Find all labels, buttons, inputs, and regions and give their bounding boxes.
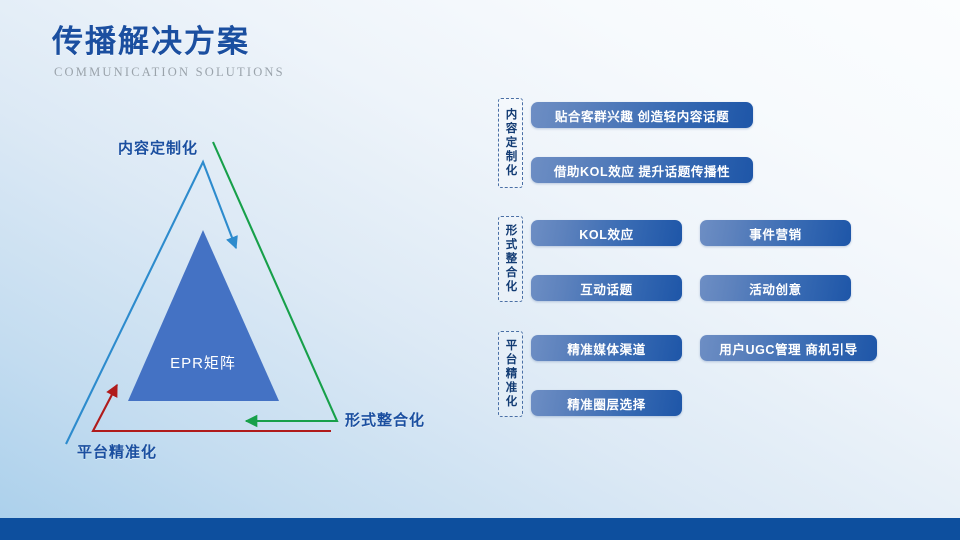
slide-canvas: 传播解决方案 COMMUNICATION SOLUTIONS [0, 0, 960, 540]
solution-group: 平台精准化精准媒体渠道用户UGC管理 商机引导精准圈层选择 [498, 329, 898, 439]
solution-group: 形式整合化KOL效应事件营销互动话题活动创意 [498, 214, 898, 324]
group-tag: 形式整合化 [498, 216, 523, 302]
solution-pill[interactable]: 贴合客群兴趣 创造轻内容话题 [531, 102, 753, 128]
solution-group: 内容定制化贴合客群兴趣 创造轻内容话题借助KOL效应 提升话题传播性 [498, 96, 898, 206]
solution-pill[interactable]: 用户UGC管理 商机引导 [700, 335, 877, 361]
solution-pill[interactable]: KOL效应 [531, 220, 682, 246]
solution-pill[interactable]: 借助KOL效应 提升话题传播性 [531, 157, 753, 183]
solution-pill-label: 精准圈层选择 [567, 394, 646, 413]
group-tag: 平台精准化 [498, 331, 523, 417]
solution-pill-label: 活动创意 [749, 279, 801, 298]
group-tag: 内容定制化 [498, 98, 523, 188]
solution-pill-label: 借助KOL效应 提升话题传播性 [554, 161, 730, 180]
group-tag-label: 形式整合化 [504, 224, 516, 294]
solution-pill[interactable]: 活动创意 [700, 275, 851, 301]
solution-pill-label: 精准媒体渠道 [567, 339, 646, 358]
solution-pill[interactable]: 事件营销 [700, 220, 851, 246]
footer-bar [0, 518, 960, 540]
solution-pill[interactable]: 互动话题 [531, 275, 682, 301]
solution-pill-label: 贴合客群兴趣 创造轻内容话题 [555, 106, 729, 125]
solution-pill[interactable]: 精准媒体渠道 [531, 335, 682, 361]
solution-pill-label: KOL效应 [579, 224, 633, 243]
diagram-label-form: 形式整合化 [345, 409, 425, 430]
epr-triangle-diagram: EPR矩阵 内容定制化 形式整合化 平台精准化 [0, 0, 470, 500]
triangle-shape [128, 230, 279, 401]
solution-pill[interactable]: 精准圈层选择 [531, 390, 682, 416]
diagram-label-content: 内容定制化 [118, 137, 198, 158]
group-tag-label: 内容定制化 [504, 108, 516, 178]
solution-pill-label: 事件营销 [749, 224, 801, 243]
triangle-center-label: EPR矩阵 [128, 352, 278, 373]
group-tag-label: 平台精准化 [504, 339, 516, 409]
solution-pill-label: 用户UGC管理 商机引导 [719, 339, 857, 358]
solution-pill-label: 互动话题 [580, 279, 632, 298]
diagram-label-platform: 平台精准化 [77, 441, 157, 462]
